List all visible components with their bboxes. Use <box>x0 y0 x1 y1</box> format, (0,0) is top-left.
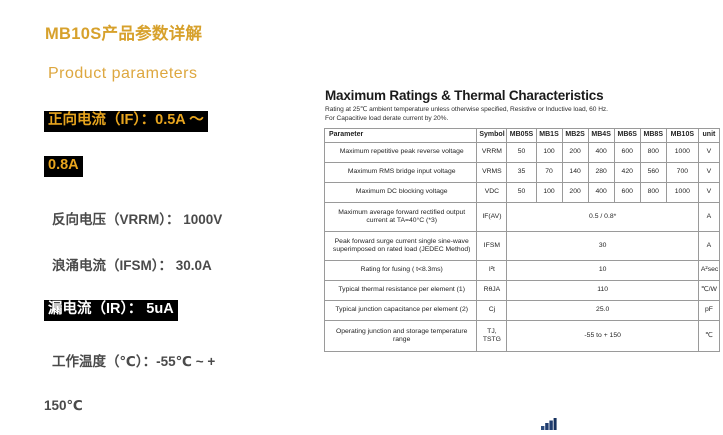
col-mb4s: MB4S <box>588 129 614 143</box>
cell-parameter: Typical thermal resistance per element (… <box>325 281 477 301</box>
table-row: Maximum RMS bridge input voltage VRMS 35… <box>325 163 720 183</box>
cell-value: 400 <box>588 183 614 203</box>
col-mb2s: MB2S <box>562 129 588 143</box>
table-row: Maximum repetitive peak reverse voltage … <box>325 143 720 163</box>
page-subtitle: Product parameters <box>48 65 198 83</box>
table-row: Peak forward surge current single sine-w… <box>325 232 720 261</box>
cell-symbol: VRRM <box>477 143 507 163</box>
page-root: MB10S产品参数详解 Product parameters 正向电流（IF）：… <box>0 0 723 431</box>
cell-symbol: TJ, TSTG <box>477 321 507 352</box>
cell-value: 700 <box>666 163 698 183</box>
cell-value: 100 <box>536 183 562 203</box>
cell-parameter: Operating junction and storage temperatu… <box>325 321 477 352</box>
cell-merged-value: 110 <box>507 281 698 301</box>
spec-operating-temperature-line1: 工作温度（℃）：-55℃ ~ + <box>52 350 215 370</box>
table-row: Operating junction and storage temperatu… <box>325 321 720 352</box>
cell-value: 50 <box>507 143 536 163</box>
table-row: Rating for fusing ( t<8.3ms) I²t 10 A²se… <box>325 261 720 281</box>
cell-value: 800 <box>640 183 666 203</box>
bar-chart-icon <box>541 417 557 429</box>
spec-leakage-current: 漏电流（IR）： 5uA <box>44 300 178 321</box>
cell-parameter: Maximum repetitive peak reverse voltage <box>325 143 477 163</box>
cell-parameter: Maximum DC blocking voltage <box>325 183 477 203</box>
cell-value: 560 <box>640 163 666 183</box>
table-row: Typical junction capacitance per element… <box>325 301 720 321</box>
cell-unit: ℃ <box>698 321 719 352</box>
cell-unit: ℃/W <box>698 281 719 301</box>
col-mb1s: MB1S <box>536 129 562 143</box>
cell-unit: A <box>698 232 719 261</box>
table-row: Maximum average forward rectified output… <box>325 203 720 232</box>
table-row: Maximum DC blocking voltage VDC 50 100 2… <box>325 183 720 203</box>
cell-value: 400 <box>588 143 614 163</box>
cell-symbol: RθJA <box>477 281 507 301</box>
cell-value: 420 <box>614 163 640 183</box>
spec-reverse-voltage: 反向电压（VRRM）： 1000V <box>52 208 222 228</box>
datasheet-section: Maximum Ratings & Thermal Characteristic… <box>322 88 720 352</box>
cell-value: 70 <box>536 163 562 183</box>
cell-value: 50 <box>507 183 536 203</box>
cell-value: 1000 <box>666 183 698 203</box>
cell-unit: pF <box>698 301 719 321</box>
col-mb6s: MB6S <box>614 129 640 143</box>
cell-unit: V <box>698 163 719 183</box>
spec-operating-temperature-line2: 150℃ <box>44 398 83 414</box>
col-parameter: Parameter <box>325 129 477 143</box>
cell-unit: A²sec <box>698 261 719 281</box>
cell-parameter: Peak forward surge current single sine-w… <box>325 232 477 261</box>
col-symbol: Symbol <box>477 129 507 143</box>
cell-symbol: VRMS <box>477 163 507 183</box>
cell-merged-value: 10 <box>507 261 698 281</box>
cell-merged-value: -55 to + 150 <box>507 321 698 352</box>
spec-surge-current: 浪涌电流（IFSM）： 30.0A <box>52 254 212 274</box>
cell-value: 280 <box>588 163 614 183</box>
cell-parameter: Typical junction capacitance per element… <box>325 301 477 321</box>
col-mb05s: MB05S <box>507 129 536 143</box>
spec-forward-current-line1: 正向电流（IF）：0.5A ～ <box>44 111 208 132</box>
cell-value: 140 <box>562 163 588 183</box>
cell-merged-value: 30 <box>507 232 698 261</box>
cell-value: 600 <box>614 143 640 163</box>
cell-symbol: VDC <box>477 183 507 203</box>
cell-unit: A <box>698 203 719 232</box>
cell-parameter: Rating for fusing ( t<8.3ms) <box>325 261 477 281</box>
col-mb8s: MB8S <box>640 129 666 143</box>
datasheet-title: Maximum Ratings & Thermal Characteristic… <box>325 88 720 104</box>
cell-value: 800 <box>640 143 666 163</box>
cell-value: 100 <box>536 143 562 163</box>
cell-parameter: Maximum RMS bridge input voltage <box>325 163 477 183</box>
cell-symbol: IF(AV) <box>477 203 507 232</box>
cell-value: 1000 <box>666 143 698 163</box>
col-mb10s: MB10S <box>666 129 698 143</box>
product-promo-panel: MB10S产品参数详解 Product parameters 正向电流（IF）：… <box>0 0 318 431</box>
cell-value: 200 <box>562 143 588 163</box>
cell-value: 200 <box>562 183 588 203</box>
table-row: Typical thermal resistance per element (… <box>325 281 720 301</box>
cell-merged-value: 0.5 / 0.8* <box>507 203 698 232</box>
datasheet-note-line1: Rating at 25℃ ambient temperature unless… <box>325 106 720 115</box>
cell-value: 35 <box>507 163 536 183</box>
cell-merged-value: 25.0 <box>507 301 698 321</box>
cell-symbol: Cj <box>477 301 507 321</box>
table-header-row: Parameter Symbol MB05S MB1S MB2S MB4S MB… <box>325 129 720 143</box>
cell-value: 600 <box>614 183 640 203</box>
cell-unit: V <box>698 183 719 203</box>
cell-symbol: IFSM <box>477 232 507 261</box>
col-unit: unit <box>698 129 719 143</box>
cell-symbol: I²t <box>477 261 507 281</box>
cell-unit: V <box>698 143 719 163</box>
page-title: MB10S产品参数详解 <box>45 20 202 44</box>
datasheet-note-line2: For Capacitive load derate current by 20… <box>325 115 720 124</box>
maximum-ratings-table: Parameter Symbol MB05S MB1S MB2S MB4S MB… <box>324 128 720 352</box>
spec-forward-current-line2: 0.8A <box>44 156 83 177</box>
cell-parameter: Maximum average forward rectified output… <box>325 203 477 232</box>
bar-chart-icon-svg <box>541 418 557 430</box>
